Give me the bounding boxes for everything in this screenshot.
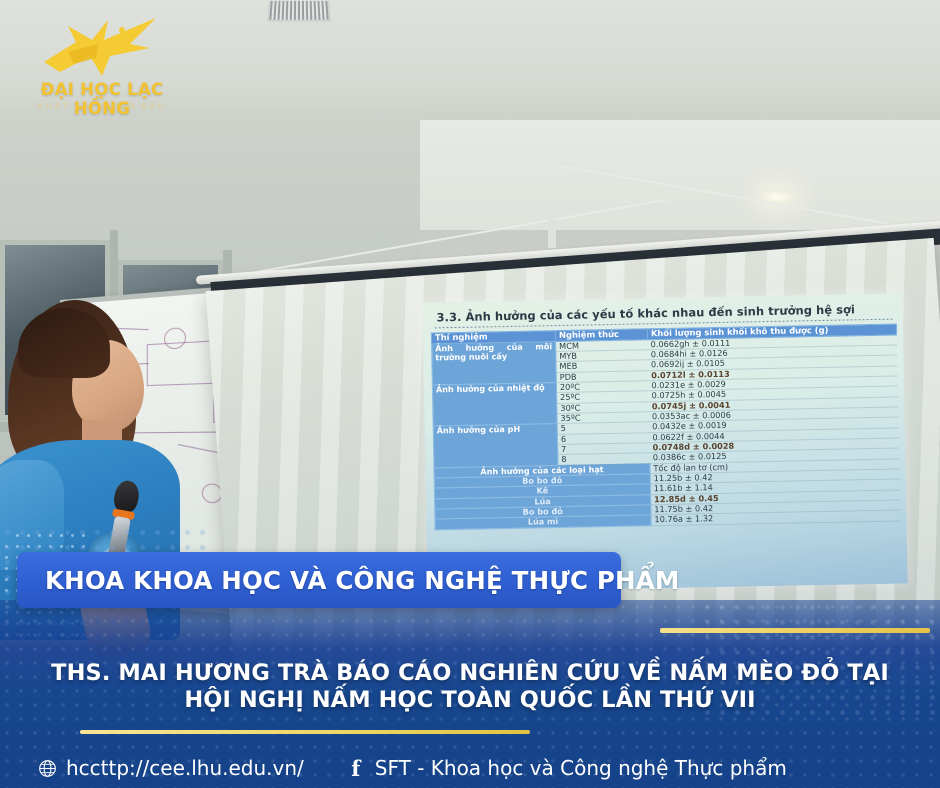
logo-tagline: KHÁT VỌNG DẪN ĐẦU [12, 102, 192, 111]
globe-icon [38, 759, 57, 778]
headline-line-2: HỘI NGHỊ NẤM HỌC TOÀN QUỐC LẦN THỨ VII [0, 687, 940, 714]
university-logo[interactable]: ĐẠI HỌC LẠC HỒNG KHÁT VỌNG DẪN ĐẦU [12, 14, 192, 118]
page-title: THS. MAI HƯƠNG TRÀ BÁO CÁO NGHIÊN CỨU VỀ… [0, 660, 940, 715]
slide-data-table: Thí nghiệm Nghiệm thức Khối lượng sinh k… [431, 324, 901, 531]
screen-mount [548, 212, 556, 248]
air-vent-icon [267, 1, 331, 22]
footer-bar: hccttp://cee.lhu.edu.vn/ f SFT - Khoa họ… [0, 748, 940, 788]
website-url: hccttp://cee.lhu.edu.vn/ [66, 756, 304, 780]
group-label: Ảnh hưởng của nhiệt độ [432, 383, 557, 427]
facebook-page-name: SFT - Khoa học và Công nghệ Thực phẩm [375, 756, 787, 780]
slide-title: 3.3. Ảnh hưởng của các yếu tố khác nhau … [430, 302, 896, 325]
poster-canvas: 3.3. Ảnh hưởng của các yếu tố khác nhau … [0, 0, 940, 788]
group-label: Ảnh hưởng của môi trường nuôi cấy [432, 341, 557, 385]
headline-line-1: THS. MAI HƯƠNG TRÀ BÁO CÁO NGHIÊN CỨU VỀ… [51, 660, 889, 686]
footer-facebook[interactable]: f SFT - Khoa học và Công nghệ Thực phẩm [346, 756, 787, 780]
gold-divider [80, 730, 530, 734]
logo-name: ĐẠI HỌC LẠC HỒNG [12, 80, 192, 118]
presenter-hair-front [18, 308, 110, 378]
footer-website[interactable]: hccttp://cee.lhu.edu.vn/ [38, 756, 304, 780]
group-label: Ảnh hưởng của pH [433, 424, 558, 468]
facebook-icon: f [346, 758, 366, 778]
department-banner: KHOA KHOA HỌC VÀ CÔNG NGHỆ THỰC PHẨM [17, 552, 621, 608]
gold-divider [660, 628, 930, 633]
projected-slide: 3.3. Ảnh hưởng của các yếu tố khác nhau … [422, 293, 907, 592]
department-label: KHOA KHOA HỌC VÀ CÔNG NGHỆ THỰC PHẨM [17, 566, 679, 595]
bird-star-logo-icon [38, 14, 168, 80]
